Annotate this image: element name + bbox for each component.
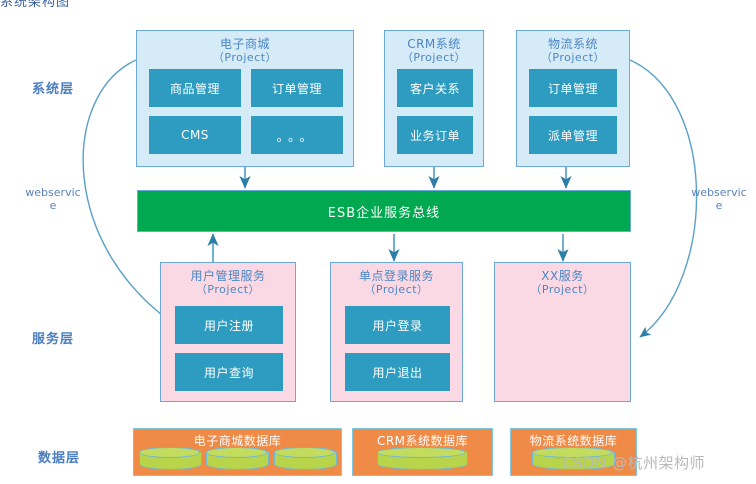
- webservice-label-right: webservice: [688, 186, 750, 212]
- module-user-logout[interactable]: 用户退出: [345, 353, 450, 391]
- project-subtitle-sso: （Project）: [331, 283, 462, 296]
- project-box-logistics[interactable]: 物流系统 （Project） 订单管理 派单管理: [516, 30, 630, 167]
- csdn-watermark: CSDN @杭州架构师: [562, 452, 705, 473]
- database-title-crm: CRM系统数据库: [353, 429, 492, 448]
- database-box-crm[interactable]: CRM系统数据库: [352, 428, 493, 476]
- layer-label-system: 系统层: [32, 78, 74, 97]
- project-subtitle-ecommerce: （Project）: [137, 51, 353, 64]
- module-user-login[interactable]: 用户登录: [345, 306, 450, 344]
- module-product-management[interactable]: 商品管理: [149, 69, 241, 107]
- project-box-crm[interactable]: CRM系统 （Project） 客户关系 业务订单: [384, 30, 484, 167]
- database-cylinder-icon: [206, 447, 269, 470]
- layer-label-data: 数据层: [38, 447, 80, 466]
- connector-arrows-layer: [0, 0, 756, 484]
- webservice-arc-right: [630, 60, 697, 337]
- webservice-label-left: webservice: [22, 186, 84, 212]
- module-more-placeholder[interactable]: 。。。: [251, 116, 343, 154]
- project-title-crm: CRM系统: [385, 31, 483, 51]
- database-box-ecommerce[interactable]: 电子商城数据库: [133, 428, 342, 476]
- module-user-query[interactable]: 用户查询: [175, 353, 283, 391]
- esb-service-bus[interactable]: ESB企业服务总线: [137, 190, 631, 232]
- module-user-register[interactable]: 用户注册: [175, 306, 283, 344]
- project-subtitle-xx-service: （Project）: [495, 283, 630, 296]
- clipped-header-text: 系统架构图: [0, 0, 70, 10]
- architecture-diagram-canvas: 系统架构图 系统层 服务层 数据层 webservice webservice …: [0, 0, 756, 484]
- layer-label-service: 服务层: [32, 328, 74, 347]
- project-title-user-management: 用户管理服务: [161, 263, 295, 283]
- project-box-xx-service[interactable]: XX服务 （Project）: [494, 262, 631, 402]
- database-cylinder-icon: [139, 447, 202, 470]
- project-title-xx-service: XX服务: [495, 263, 630, 283]
- project-subtitle-crm: （Project）: [385, 51, 483, 64]
- module-business-order[interactable]: 业务订单: [397, 116, 473, 154]
- module-order-management-ecommerce[interactable]: 订单管理: [251, 69, 343, 107]
- project-box-ecommerce[interactable]: 电子商城 （Project） 商品管理 订单管理 CMS 。。。: [136, 30, 354, 167]
- module-order-management-logistics[interactable]: 订单管理: [529, 69, 617, 107]
- module-cms[interactable]: CMS: [149, 116, 241, 154]
- project-title-ecommerce: 电子商城: [137, 31, 353, 51]
- project-box-user-management-service[interactable]: 用户管理服务 （Project） 用户注册 用户查询: [160, 262, 296, 402]
- project-title-logistics: 物流系统: [517, 31, 629, 51]
- project-subtitle-user-management: （Project）: [161, 283, 295, 296]
- project-box-sso-service[interactable]: 单点登录服务 （Project） 用户登录 用户退出: [330, 262, 463, 402]
- cylinder-row-crm: [353, 447, 492, 470]
- esb-label: ESB企业服务总线: [328, 202, 440, 221]
- module-dispatch-management[interactable]: 派单管理: [529, 116, 617, 154]
- database-cylinder-icon: [274, 447, 337, 470]
- database-title-logistics: 物流系统数据库: [511, 429, 636, 448]
- project-subtitle-logistics: （Project）: [517, 51, 629, 64]
- database-title-ecommerce: 电子商城数据库: [134, 429, 341, 448]
- module-customer-relations[interactable]: 客户关系: [397, 69, 473, 107]
- project-title-sso: 单点登录服务: [331, 263, 462, 283]
- database-cylinder-icon: [377, 447, 468, 470]
- cylinder-row-ecommerce: [134, 447, 341, 470]
